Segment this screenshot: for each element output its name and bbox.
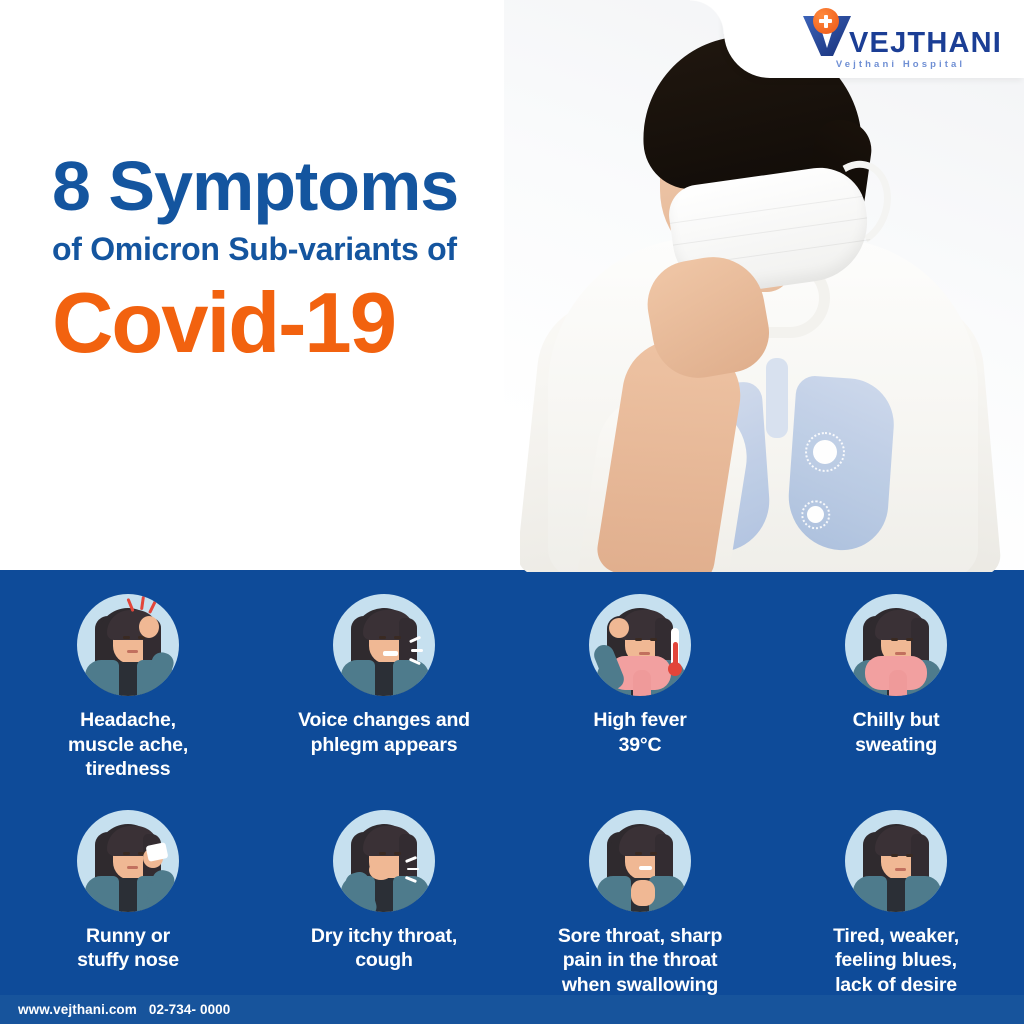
hero-section: VEJTHANI Vejthani Hospital 8 Symptoms of… <box>0 0 1024 572</box>
logo-v-mark-icon <box>801 12 853 58</box>
headline-line-2: of Omicron Sub-variants of <box>52 226 458 272</box>
headache-icon <box>77 594 179 696</box>
symptom-item-8[interactable]: Tired, weaker, feeling blues, lack of de… <box>768 810 1024 1022</box>
symptom-label-6: Dry itchy throat, cough <box>311 924 457 973</box>
sore-throat-icon <box>589 810 691 912</box>
runny-nose-icon <box>77 810 179 912</box>
logo-wordmark: VEJTHANI <box>849 28 1002 58</box>
dry-cough-icon <box>333 810 435 912</box>
medical-cross-icon <box>813 8 839 34</box>
infographic-poster: VEJTHANI Vejthani Hospital 8 Symptoms of… <box>0 0 1024 1024</box>
symptom-label-5: Runny or stuffy nose <box>77 924 179 973</box>
coughing-man-photo <box>520 0 1024 572</box>
vejthani-logo[interactable]: VEJTHANI Vejthani Hospital <box>801 12 1002 70</box>
virus-particle-icon <box>813 440 837 464</box>
symptoms-row-2: Runny or stuffy nose Dry itchy t <box>0 782 1024 1022</box>
trachea-shape <box>766 358 788 438</box>
headline-line-1: 8 Symptoms <box>52 148 458 224</box>
symptom-label-2: Voice changes and phlegm appears <box>298 708 470 757</box>
fatigue-blues-icon <box>845 810 947 912</box>
footer-phone-number[interactable]: 02-734- 0000 <box>149 1002 231 1017</box>
symptom-label-3: High fever 39°C <box>593 708 686 757</box>
symptom-item-2[interactable]: Voice changes and phlegm appears <box>256 594 512 757</box>
symptom-label-7: Sore throat, sharp pain in the throat wh… <box>558 924 722 998</box>
symptom-item-4[interactable]: Chilly but sweating <box>768 594 1024 757</box>
symptoms-grid: Headache, muscle ache, tiredness Voice c… <box>0 570 1024 1022</box>
headline-block: 8 Symptoms of Omicron Sub-variants of Co… <box>52 148 458 370</box>
symptoms-row-1: Headache, muscle ache, tiredness Voice c… <box>0 570 1024 782</box>
symptom-label-4: Chilly but sweating <box>853 708 940 757</box>
symptoms-panel: Headache, muscle ache, tiredness Voice c… <box>0 570 1024 995</box>
footer-bar: www.vejthani.com 02-734- 0000 <box>0 995 1024 1024</box>
virus-particle-icon <box>807 506 824 523</box>
voice-change-icon <box>333 594 435 696</box>
headline-line-3: Covid-19 <box>52 278 458 370</box>
symptom-item-5[interactable]: Runny or stuffy nose <box>0 810 256 973</box>
logo-subtitle: Vejthani Hospital <box>836 59 965 70</box>
high-fever-icon <box>589 594 691 696</box>
symptom-item-7[interactable]: Sore throat, sharp pain in the throat wh… <box>512 810 768 998</box>
chills-sweating-icon <box>845 594 947 696</box>
footer-website-link[interactable]: www.vejthani.com <box>18 1002 137 1017</box>
symptom-item-1[interactable]: Headache, muscle ache, tiredness <box>0 594 256 782</box>
symptom-label-1: Headache, muscle ache, tiredness <box>68 708 188 782</box>
symptom-item-3[interactable]: High fever 39°C <box>512 594 768 757</box>
symptom-item-6[interactable]: Dry itchy throat, cough <box>256 810 512 973</box>
